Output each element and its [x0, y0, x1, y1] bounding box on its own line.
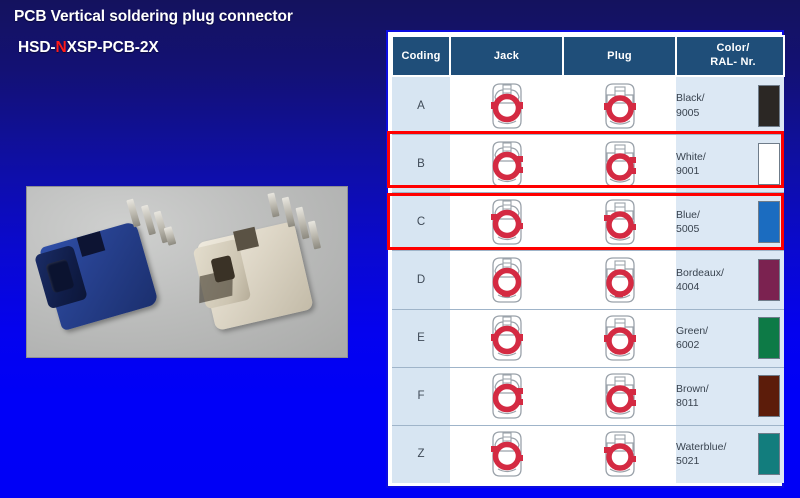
color-name-cell: Blue/5005	[676, 193, 754, 251]
part-number-highlight: N	[56, 39, 67, 56]
ral-number-text: 4004	[676, 280, 754, 294]
header-jack: Jack	[450, 36, 563, 76]
plug-cell	[563, 251, 676, 309]
white-connector-pin	[267, 193, 279, 218]
plug-connector-icon	[596, 139, 644, 189]
plug-connector-icon	[596, 255, 644, 305]
table-row: EGreen/6002	[392, 309, 784, 367]
table-row: CBlue/5005	[392, 193, 784, 251]
header-color-line2: RAL- Nr.	[684, 56, 782, 70]
jack-connector-icon	[483, 313, 531, 363]
coding-cell: Z	[392, 425, 450, 483]
color-name-text: Bordeaux/	[676, 266, 754, 280]
page-title: PCB Vertical soldering plug connector	[14, 8, 374, 26]
header-color: Color/ RAL- Nr.	[676, 36, 784, 76]
ral-number-text: 5005	[676, 222, 754, 236]
color-name-cell: Green/6002	[676, 309, 754, 367]
plug-cell	[563, 309, 676, 367]
coding-cell: E	[392, 309, 450, 367]
color-name-text: White/	[676, 150, 754, 164]
plug-cell	[563, 135, 676, 193]
blue-connector-pin	[164, 226, 177, 246]
color-name-text: Blue/	[676, 208, 754, 222]
color-name-cell: Waterblue/5021	[676, 425, 754, 483]
color-swatch	[758, 317, 780, 359]
header-plug: Plug	[563, 36, 676, 76]
color-name-cell: Black/9005	[676, 76, 754, 135]
table-row: DBordeaux/4004	[392, 251, 784, 309]
coding-table: Coding Jack Plug Color/ RAL- Nr. ABlack/…	[386, 30, 784, 488]
jack-connector-icon	[483, 197, 531, 247]
color-swatch	[758, 375, 780, 417]
color-swatch-cell	[754, 135, 784, 193]
plug-cell	[563, 425, 676, 483]
color-swatch-cell	[754, 367, 784, 425]
white-connector-pin	[308, 221, 321, 250]
part-number-prefix: HSD-	[18, 39, 56, 56]
plug-connector-icon	[596, 197, 644, 247]
table-header-row: Coding Jack Plug Color/ RAL- Nr.	[392, 36, 784, 76]
color-name-text: Black/	[676, 91, 754, 105]
table-row: ABlack/9005	[392, 76, 784, 135]
color-swatch-cell	[754, 193, 784, 251]
jack-connector-icon	[483, 429, 531, 479]
plug-cell	[563, 367, 676, 425]
table-row: BWhite/9001	[392, 135, 784, 193]
ral-number-text: 9001	[676, 164, 754, 178]
table-row: ZWaterblue/5021	[392, 425, 784, 483]
coding-table-element: Coding Jack Plug Color/ RAL- Nr. ABlack/…	[391, 35, 785, 483]
slide-canvas: PCB Vertical soldering plug connector HS…	[0, 0, 800, 498]
plug-cell	[563, 193, 676, 251]
title-block: PCB Vertical soldering plug connector HS…	[14, 8, 374, 57]
plug-connector-icon	[596, 313, 644, 363]
color-swatch-cell	[754, 76, 784, 135]
color-name-cell: Bordeaux/4004	[676, 251, 754, 309]
color-name-cell: White/9001	[676, 135, 754, 193]
coding-cell: B	[392, 135, 450, 193]
table-body: ABlack/9005BWhite/9001CBlue/5005DBordeau…	[392, 76, 784, 483]
product-photo	[26, 186, 348, 358]
table-row: FBrown/8011	[392, 367, 784, 425]
plug-cell	[563, 76, 676, 135]
color-name-cell: Brown/8011	[676, 367, 754, 425]
part-number: HSD-NXSP-PCB-2X	[18, 39, 374, 57]
jack-connector-icon	[483, 255, 531, 305]
jack-cell	[450, 425, 563, 483]
plug-connector-icon	[596, 429, 644, 479]
jack-connector-icon	[483, 81, 531, 131]
jack-cell	[450, 309, 563, 367]
header-color-line1: Color/	[684, 42, 782, 56]
blue-connector-pin	[141, 205, 156, 236]
color-swatch-cell	[754, 309, 784, 367]
jack-cell	[450, 76, 563, 135]
coding-cell: A	[392, 76, 450, 135]
jack-cell	[450, 193, 563, 251]
jack-connector-icon	[483, 371, 531, 421]
color-swatch	[758, 259, 780, 301]
jack-cell	[450, 135, 563, 193]
color-name-text: Brown/	[676, 382, 754, 396]
ral-number-text: 5021	[676, 454, 754, 468]
coding-cell: D	[392, 251, 450, 309]
coding-cell: F	[392, 367, 450, 425]
color-swatch-cell	[754, 425, 784, 483]
color-name-text: Waterblue/	[676, 440, 754, 454]
ral-number-text: 9005	[676, 106, 754, 120]
color-swatch-cell	[754, 251, 784, 309]
jack-cell	[450, 251, 563, 309]
coding-cell: C	[392, 193, 450, 251]
plug-connector-icon	[596, 371, 644, 421]
color-swatch	[758, 201, 780, 243]
plug-connector-icon	[596, 81, 644, 131]
color-swatch	[758, 85, 780, 127]
ral-number-text: 8011	[676, 396, 754, 410]
jack-cell	[450, 367, 563, 425]
color-name-text: Green/	[676, 324, 754, 338]
ral-number-text: 6002	[676, 338, 754, 352]
header-coding: Coding	[392, 36, 450, 76]
jack-connector-icon	[483, 139, 531, 189]
color-swatch	[758, 433, 780, 475]
part-number-suffix: XSP-PCB-2X	[67, 39, 159, 56]
color-swatch	[758, 143, 780, 185]
